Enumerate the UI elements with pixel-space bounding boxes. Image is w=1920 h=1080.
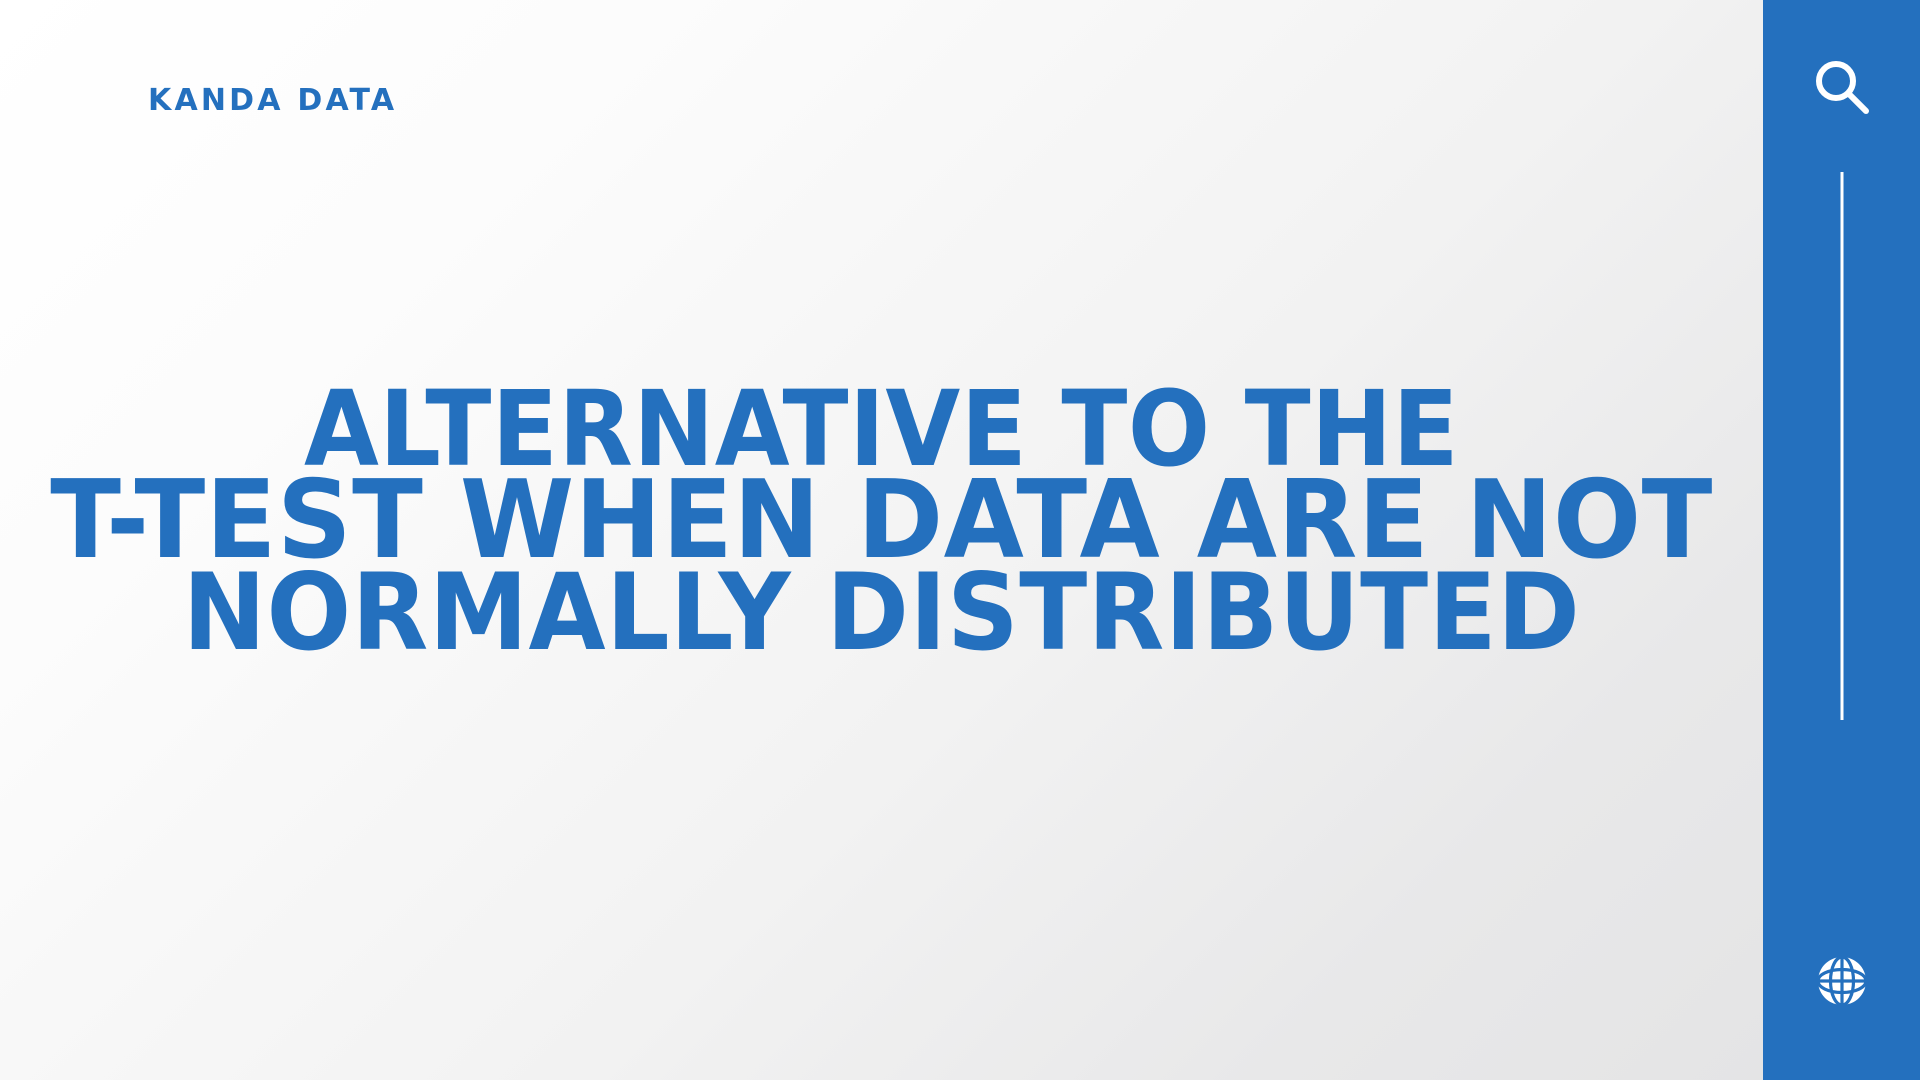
page-title: ALTERNATIVE TO THE T-TEST WHEN DATA ARE … (0, 383, 1763, 659)
search-icon[interactable] (1811, 56, 1873, 118)
right-sidebar (1763, 0, 1920, 1080)
slide-canvas: KANDA DATA ALTERNATIVE TO THE T-TEST WHE… (0, 0, 1920, 1080)
vertical-divider (1840, 172, 1843, 720)
globe-icon[interactable] (1815, 954, 1869, 1008)
title-line-3: NORMALLY DISTRIBUTED (53, 567, 1710, 659)
brand-logo: KANDA DATA (148, 86, 397, 116)
